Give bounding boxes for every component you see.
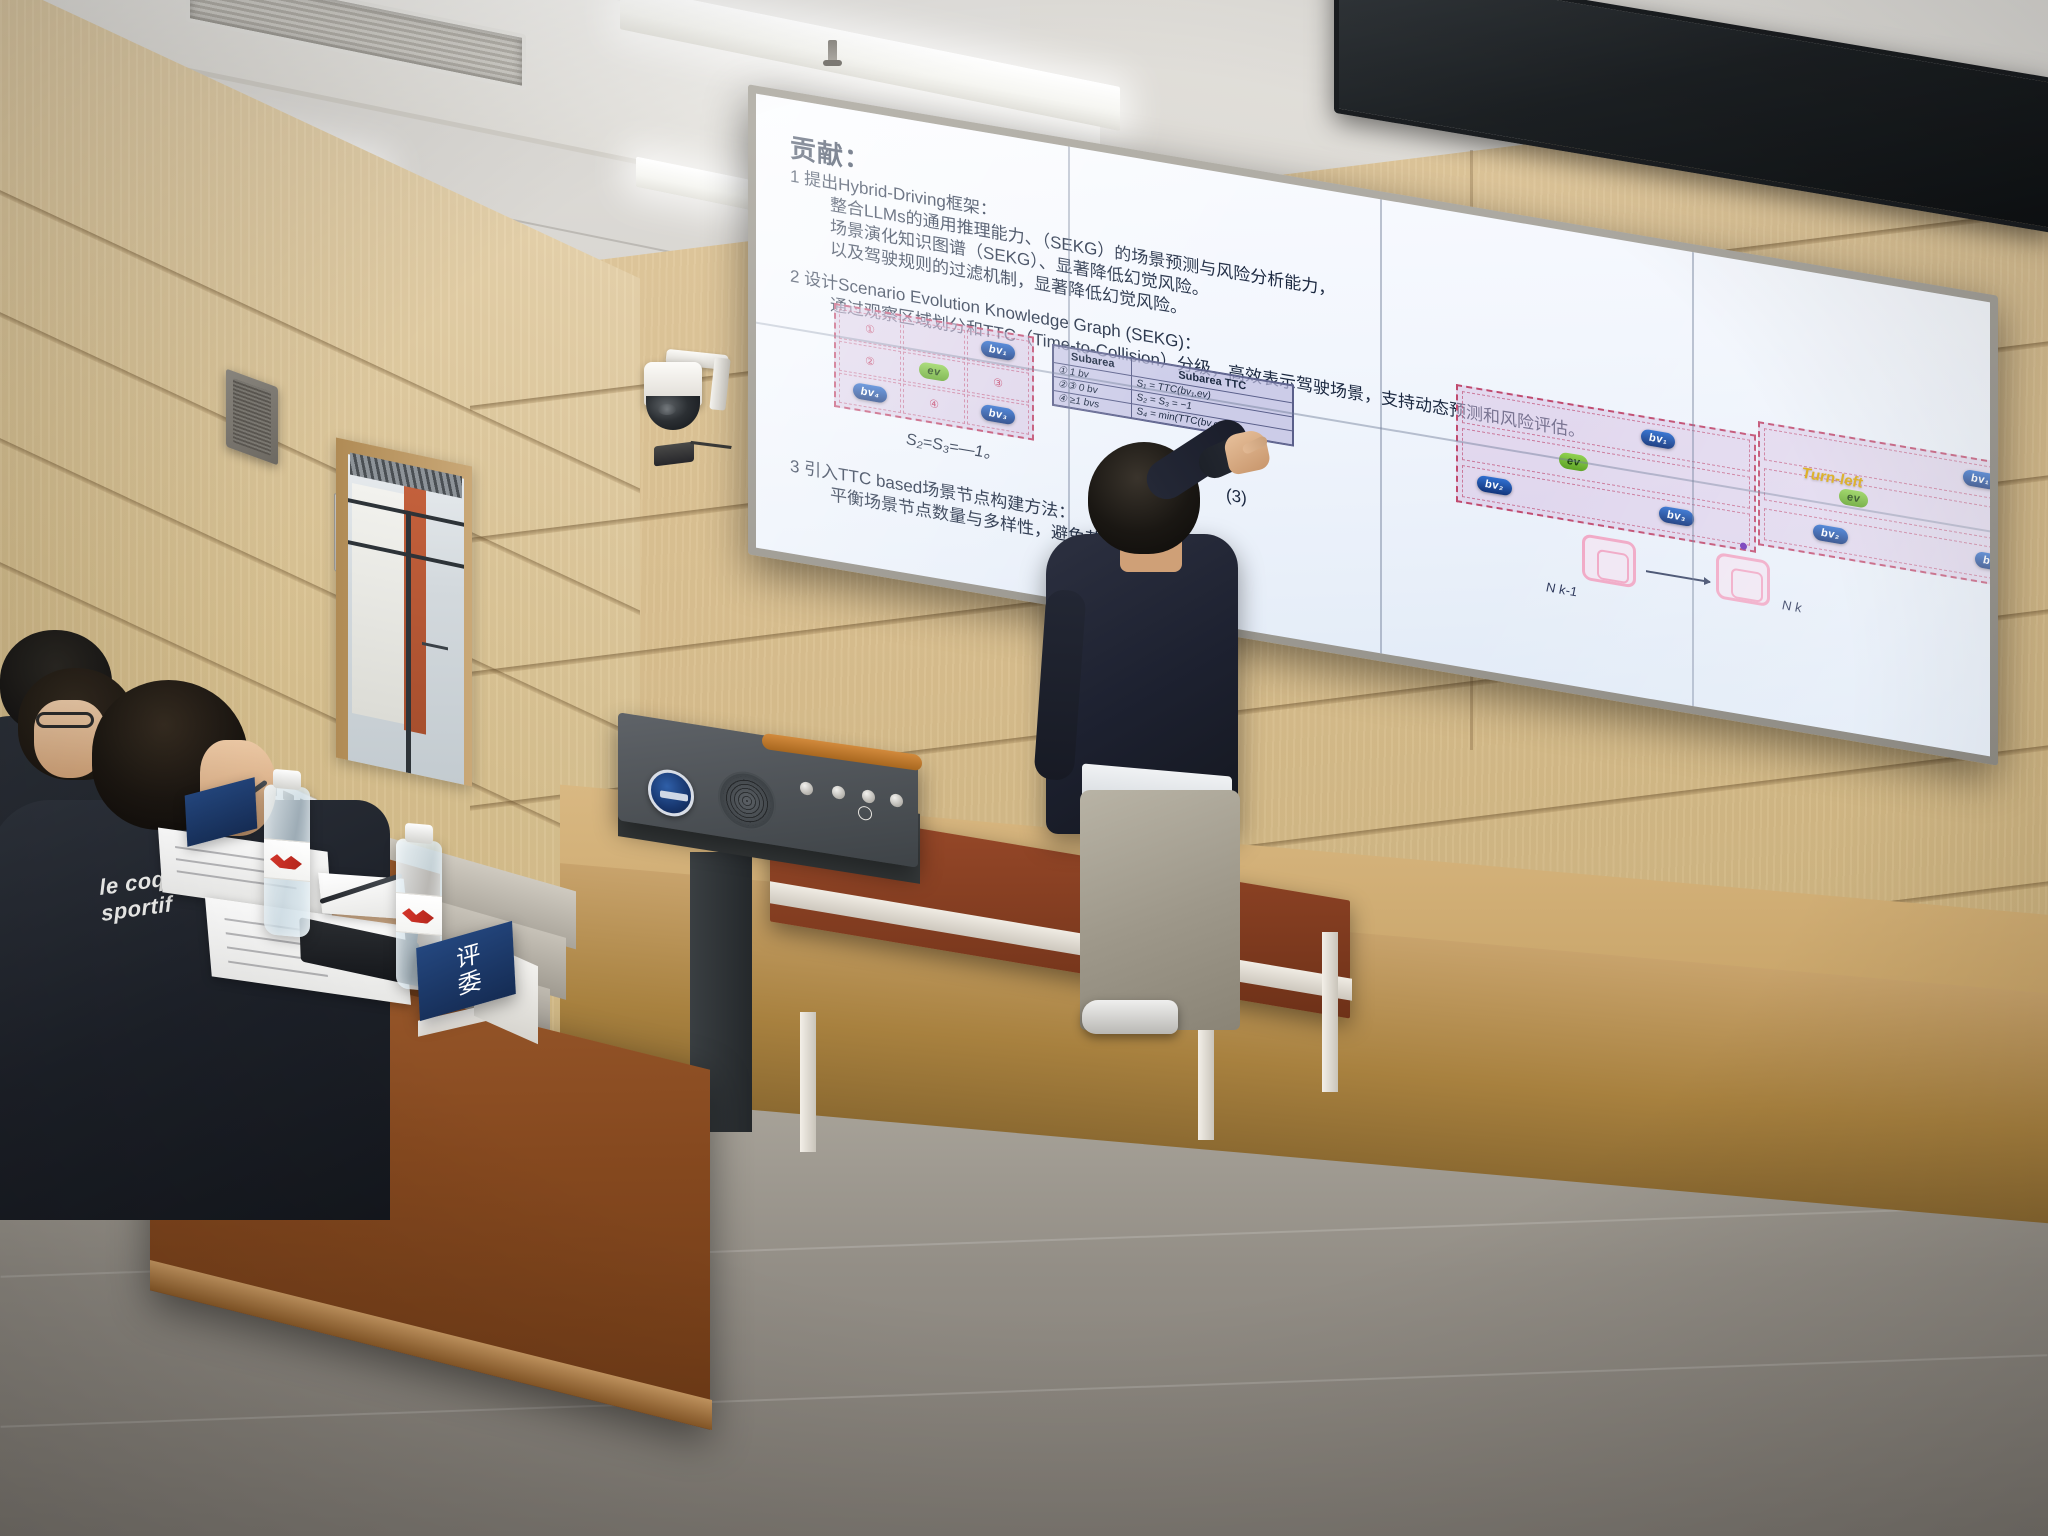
- slide-equation-number: (3): [1226, 485, 1247, 509]
- bottle-label: [396, 892, 442, 936]
- sprinkler-icon: [828, 40, 837, 66]
- vehicle-chip-bv4: bv₄: [853, 382, 888, 404]
- floor-seam: [1, 1354, 2048, 1427]
- exterior-building: [352, 483, 404, 724]
- vehicle-chip-bv2: bv₂: [1477, 475, 1512, 497]
- vehicle-chip-bv1: bv₁: [1963, 469, 1990, 491]
- bottle-cap: [273, 769, 301, 790]
- table-leg: [800, 1012, 816, 1152]
- vehicle-chip-bv3: bv₃: [1659, 505, 1694, 527]
- exterior-building: [426, 493, 464, 745]
- door-mullion: [406, 510, 411, 773]
- lane-scenario-diagram-next: bv₁ ev bv₂ bv₃ Turn-left: [1758, 421, 1990, 596]
- scenario-node-next-icon: [1716, 552, 1770, 607]
- name-placard-text: 评委: [447, 939, 485, 1002]
- scenario-node-prev-icon: [1582, 533, 1636, 588]
- water-bottle[interactable]: [264, 784, 310, 938]
- table-leg: [1322, 932, 1338, 1092]
- scenario-node-next-label: N k: [1782, 597, 1802, 615]
- vehicle-chip-bv2: bv₂: [1813, 523, 1848, 545]
- lecture-room-scene: 贡献： 1 提出Hybrid-Driving框架： 整合LLMs的通用推理能力、…: [0, 0, 2048, 1536]
- glasses-icon: [36, 712, 94, 728]
- vehicle-chip-ev: ev: [919, 361, 948, 382]
- brand-mark-icon: [858, 805, 872, 821]
- scenario-node-prev-label: N k-1: [1546, 579, 1577, 599]
- vehicle-chip-bv3: bv₃: [981, 404, 1016, 426]
- lane-scenario-diagram-prev: bv₁ ev bv₂ bv₃: [1456, 384, 1756, 553]
- vehicle-chip-bv1: bv₁: [981, 340, 1015, 362]
- vehicle-chip-bv3: bv₃: [1975, 551, 1990, 573]
- vehicle-chip-bv1: bv₁: [1641, 428, 1675, 450]
- bottle-cap: [405, 823, 433, 844]
- node-marker-dot: [1740, 542, 1747, 550]
- node-arrow-icon: [1646, 570, 1710, 583]
- bottle-label: [264, 838, 310, 882]
- door-frame: [336, 438, 472, 787]
- presenter-shoe: [1082, 1000, 1178, 1034]
- presenter-trousers: [1080, 790, 1240, 1030]
- door-glass[interactable]: [348, 454, 464, 785]
